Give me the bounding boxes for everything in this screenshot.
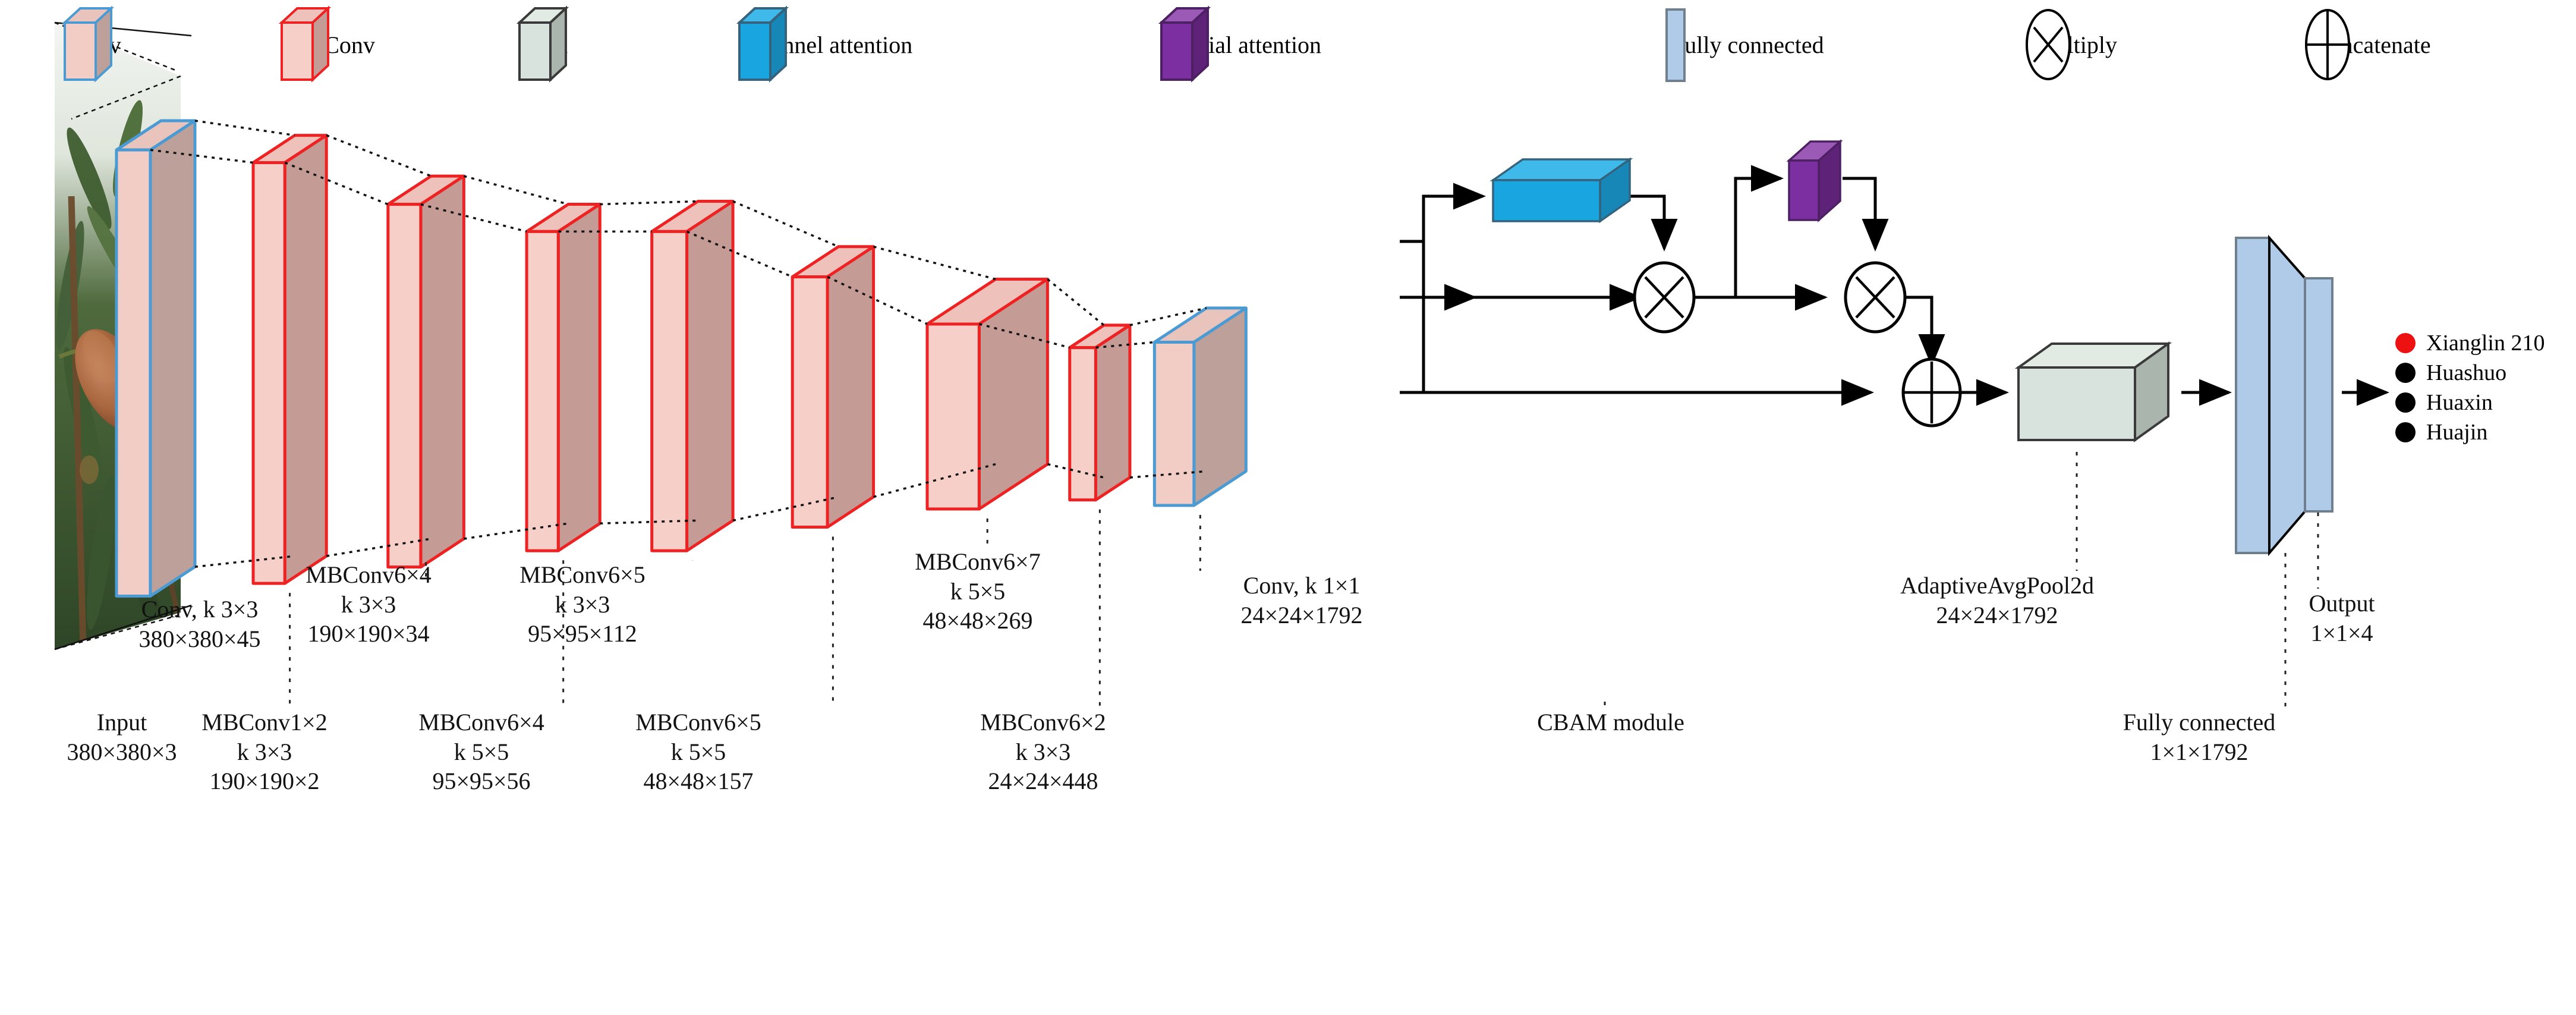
- label-kernel: k 3×3: [256, 590, 481, 620]
- label-shape: 48×48×157: [585, 766, 811, 796]
- label-mbconv6x2: MBConv6×2 k 3×3 24×24×448: [924, 708, 1162, 796]
- label-shape: 24×24×1792: [1860, 601, 2134, 630]
- label-kernel: k 3×3: [470, 590, 695, 620]
- output-class-row: Xianglin 210: [2395, 330, 2544, 356]
- cube-channel-icon: [731, 0, 796, 89]
- label-kernel: k 5×5: [369, 737, 594, 767]
- output-class-row: Huajin: [2395, 419, 2544, 445]
- backbone-block-mbconv6x4b: [527, 204, 600, 551]
- block-connector: [326, 136, 431, 177]
- label-shape: 190×190×34: [256, 619, 481, 649]
- label-shape: 95×95×56: [369, 766, 594, 796]
- label-pool: AdaptiveAvgPool2d 24×24×1792: [1860, 571, 2134, 630]
- multiply-node-2: [1846, 263, 1905, 332]
- label-shape: 1×1×1792: [2068, 737, 2330, 767]
- backbone-block-mbconv1x2: [253, 136, 326, 584]
- backbone-block-mbconv6x7: [927, 279, 1047, 510]
- block-connector: [874, 247, 996, 279]
- label-cbam: CBAM module: [1480, 708, 1742, 737]
- legend-item-channel-attention: Channel attention: [731, 0, 912, 89]
- label-name: CBAM module: [1480, 708, 1742, 737]
- block-connector: [600, 202, 698, 205]
- cube-pool-icon: [511, 0, 577, 89]
- class-label: Huaxin: [2426, 389, 2493, 416]
- label-name: MBConv1×2: [152, 708, 377, 737]
- class-label: Huajin: [2426, 419, 2487, 445]
- spatial-attention-block: [1789, 142, 1840, 220]
- legend-item-pool: Pool: [511, 0, 568, 89]
- legend-item-concatenate: Concatenate: [2300, 0, 2431, 89]
- backbone-block-mbconv6x5b: [792, 247, 873, 527]
- concat-node: [1903, 359, 1960, 426]
- slab-fc-icon: [1658, 0, 1692, 89]
- class-color-dot: [2395, 363, 2416, 383]
- label-name: MBConv6×7: [862, 547, 1094, 577]
- legend-item-conv: Conv: [56, 0, 121, 89]
- class-color-dot: [2395, 392, 2416, 413]
- legend-item-multiply: Multiply: [2021, 0, 2117, 89]
- label-kernel: k 3×3: [924, 737, 1162, 767]
- legend-item-spatial-attention: Spatial attention: [1153, 0, 1321, 89]
- multiply-node-1: [1635, 263, 1694, 332]
- cube-spatial-icon: [1153, 0, 1218, 89]
- label-mbconv6x7: MBConv6×7 k 5×5 48×48×269: [862, 547, 1094, 636]
- backbone-block-conv-head: [1154, 308, 1246, 505]
- block-connector: [195, 121, 295, 136]
- output-class-list: Xianglin 210 Huashuo Huaxin Huajin: [2395, 330, 2544, 449]
- label-shape: 95×95×112: [470, 619, 695, 649]
- block-connector: [464, 176, 568, 204]
- label-mbconv6x5b: MBConv6×5 k 5×5 48×48×157: [585, 708, 811, 796]
- cube-conv-icon: [56, 0, 122, 89]
- fully-connected-block: [2236, 238, 2332, 553]
- label-kernel: k 5×5: [585, 737, 811, 767]
- cube-mbconv-icon: [273, 0, 339, 89]
- legend-item-mbconv: MBConv: [273, 0, 375, 89]
- label-kernel: k 5×5: [862, 577, 1094, 607]
- label-shape: 48×48×269: [862, 606, 1094, 636]
- label-name: Output: [2253, 589, 2431, 618]
- output-class-row: Huaxin: [2395, 389, 2544, 416]
- backbone-block-conv-stem: [116, 121, 195, 596]
- class-color-dot: [2395, 422, 2416, 442]
- label-name: MBConv6×5: [470, 560, 695, 590]
- backbone-block-mbconv6x5a: [652, 202, 733, 551]
- label-shape: 190×190×2: [152, 766, 377, 796]
- label-conv-head: Conv, k 1×1 24×24×1792: [1177, 571, 1426, 630]
- architecture-diagram: Conv, k 3×3 380×380×45 MBConv6×4 k 3×3 1…: [0, 0, 2576, 892]
- label-mbconv6x5a: MBConv6×5 k 3×3 95×95×112: [470, 560, 695, 649]
- backbone-blocks: [116, 121, 1246, 596]
- label-name: MBConv6×4: [369, 708, 594, 737]
- pool-block: [2018, 344, 2168, 440]
- label-mbconv1x2: MBConv1×2 k 3×3 190×190×2: [152, 708, 377, 796]
- label-fully-connected: Fully connected 1×1×1792: [2068, 708, 2330, 766]
- block-connector: [733, 202, 839, 247]
- label-kernel: k 3×3: [152, 737, 377, 767]
- label-output: Output 1×1×4: [2253, 589, 2431, 648]
- class-label: Xianglin 210: [2426, 330, 2544, 356]
- label-mbconv6x4a: MBConv6×4 k 3×3 190×190×34: [256, 560, 481, 649]
- legend-label: Fully connected: [1671, 31, 1824, 59]
- backbone-block-mbconv6x4a: [388, 176, 464, 567]
- label-name: Fully connected: [2068, 708, 2330, 737]
- concat-icon: [2300, 0, 2355, 89]
- label-name: MBConv6×5: [585, 708, 811, 737]
- label-shape: 1×1×4: [2253, 618, 2431, 648]
- legend: Conv MBConv Pool Channel attention: [0, 0, 2576, 95]
- legend-item-fully-connected: Fully connected: [1658, 0, 1824, 89]
- label-shape: 24×24×1792: [1177, 601, 1426, 630]
- label-shape: 24×24×448: [924, 766, 1162, 796]
- class-color-dot: [2395, 333, 2416, 353]
- label-name: AdaptiveAvgPool2d: [1860, 571, 2134, 601]
- output-class-row: Huashuo: [2395, 360, 2544, 386]
- backbone-block-mbconv6x2: [1070, 325, 1130, 500]
- channel-attention-block: [1493, 159, 1630, 221]
- label-name: MBConv6×2: [924, 708, 1162, 737]
- label-name: MBConv6×4: [256, 560, 481, 590]
- label-mbconv6x4b: MBConv6×4 k 5×5 95×95×56: [369, 708, 594, 796]
- label-name: Conv, k 1×1: [1177, 571, 1426, 601]
- class-label: Huashuo: [2426, 360, 2506, 386]
- block-connector: [1047, 279, 1104, 325]
- multiply-icon: [2021, 0, 2076, 89]
